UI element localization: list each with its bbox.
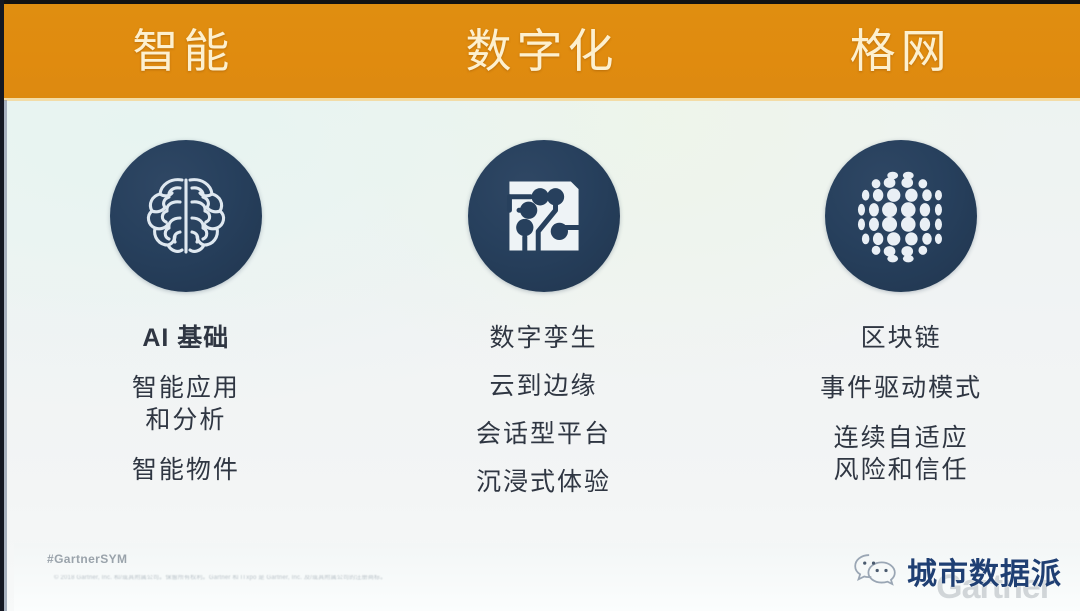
wechat-watermark: 城市数据派	[853, 549, 1062, 593]
list-item: 智能应用 和分析	[132, 372, 240, 436]
wechat-icon	[853, 552, 897, 591]
list-item: 沉浸式体验	[476, 466, 611, 498]
column-text-mesh: 区块链 事件驱动模式 连续自适应 风险和信任	[820, 322, 982, 504]
slide-body: AI 基础 智能应用 和分析 智能物件	[7, 98, 1080, 611]
header-title-digital: 数字化	[466, 28, 619, 74]
wechat-account-name: 城市数据派	[907, 549, 1062, 593]
mesh-globe-icon	[849, 164, 953, 268]
frame-edge-top	[0, 0, 1080, 4]
column-text-intelligent: AI 基础 智能应用 和分析 智能物件	[132, 322, 240, 504]
brain-icon-badge	[110, 140, 262, 292]
content-column-digital: 数字孪生 云到边缘 会话型平台 沉浸式体验	[365, 98, 723, 538]
circuit-chip-icon-badge	[468, 140, 620, 292]
presentation-slide: 智能 数字化 格网	[0, 0, 1080, 611]
brain-icon	[136, 166, 236, 266]
header-band: 智能 数字化 格网	[4, 4, 1080, 98]
circuit-chip-icon	[496, 168, 592, 264]
content-columns: AI 基础 智能应用 和分析 智能物件	[7, 98, 1080, 538]
list-item: 连续自适应 风险和信任	[820, 422, 982, 486]
list-item: 区块链	[820, 322, 982, 354]
frame-edge-left	[0, 0, 4, 611]
list-item: 数字孪生	[476, 322, 611, 354]
content-column-mesh: 区块链 事件驱动模式 连续自适应 风险和信任	[722, 98, 1080, 538]
header-title-mesh: 格网	[850, 28, 952, 74]
content-column-intelligent: AI 基础 智能应用 和分析 智能物件	[7, 98, 365, 538]
list-item: AI 基础	[132, 322, 240, 354]
header-column-1: 智能	[4, 28, 363, 74]
list-item: 会话型平台	[476, 418, 611, 450]
hashtag-label: #GartnerSYM	[47, 552, 127, 566]
frame-edge-left-inner	[4, 100, 7, 611]
header-title-intelligent: 智能	[132, 28, 234, 74]
header-column-2: 数字化	[363, 28, 722, 74]
column-text-digital: 数字孪生 云到边缘 会话型平台 沉浸式体验	[476, 322, 611, 514]
copyright-fineprint: © 2018 Gartner, Inc. 和/或其附属公司。保留所有权利。Gar…	[54, 575, 780, 582]
header-column-3: 格网	[721, 28, 1080, 74]
mesh-globe-icon-badge	[825, 140, 977, 292]
list-item: 智能物件	[132, 454, 240, 486]
list-item: 云到边缘	[476, 370, 611, 402]
list-item: 事件驱动模式	[820, 372, 982, 404]
